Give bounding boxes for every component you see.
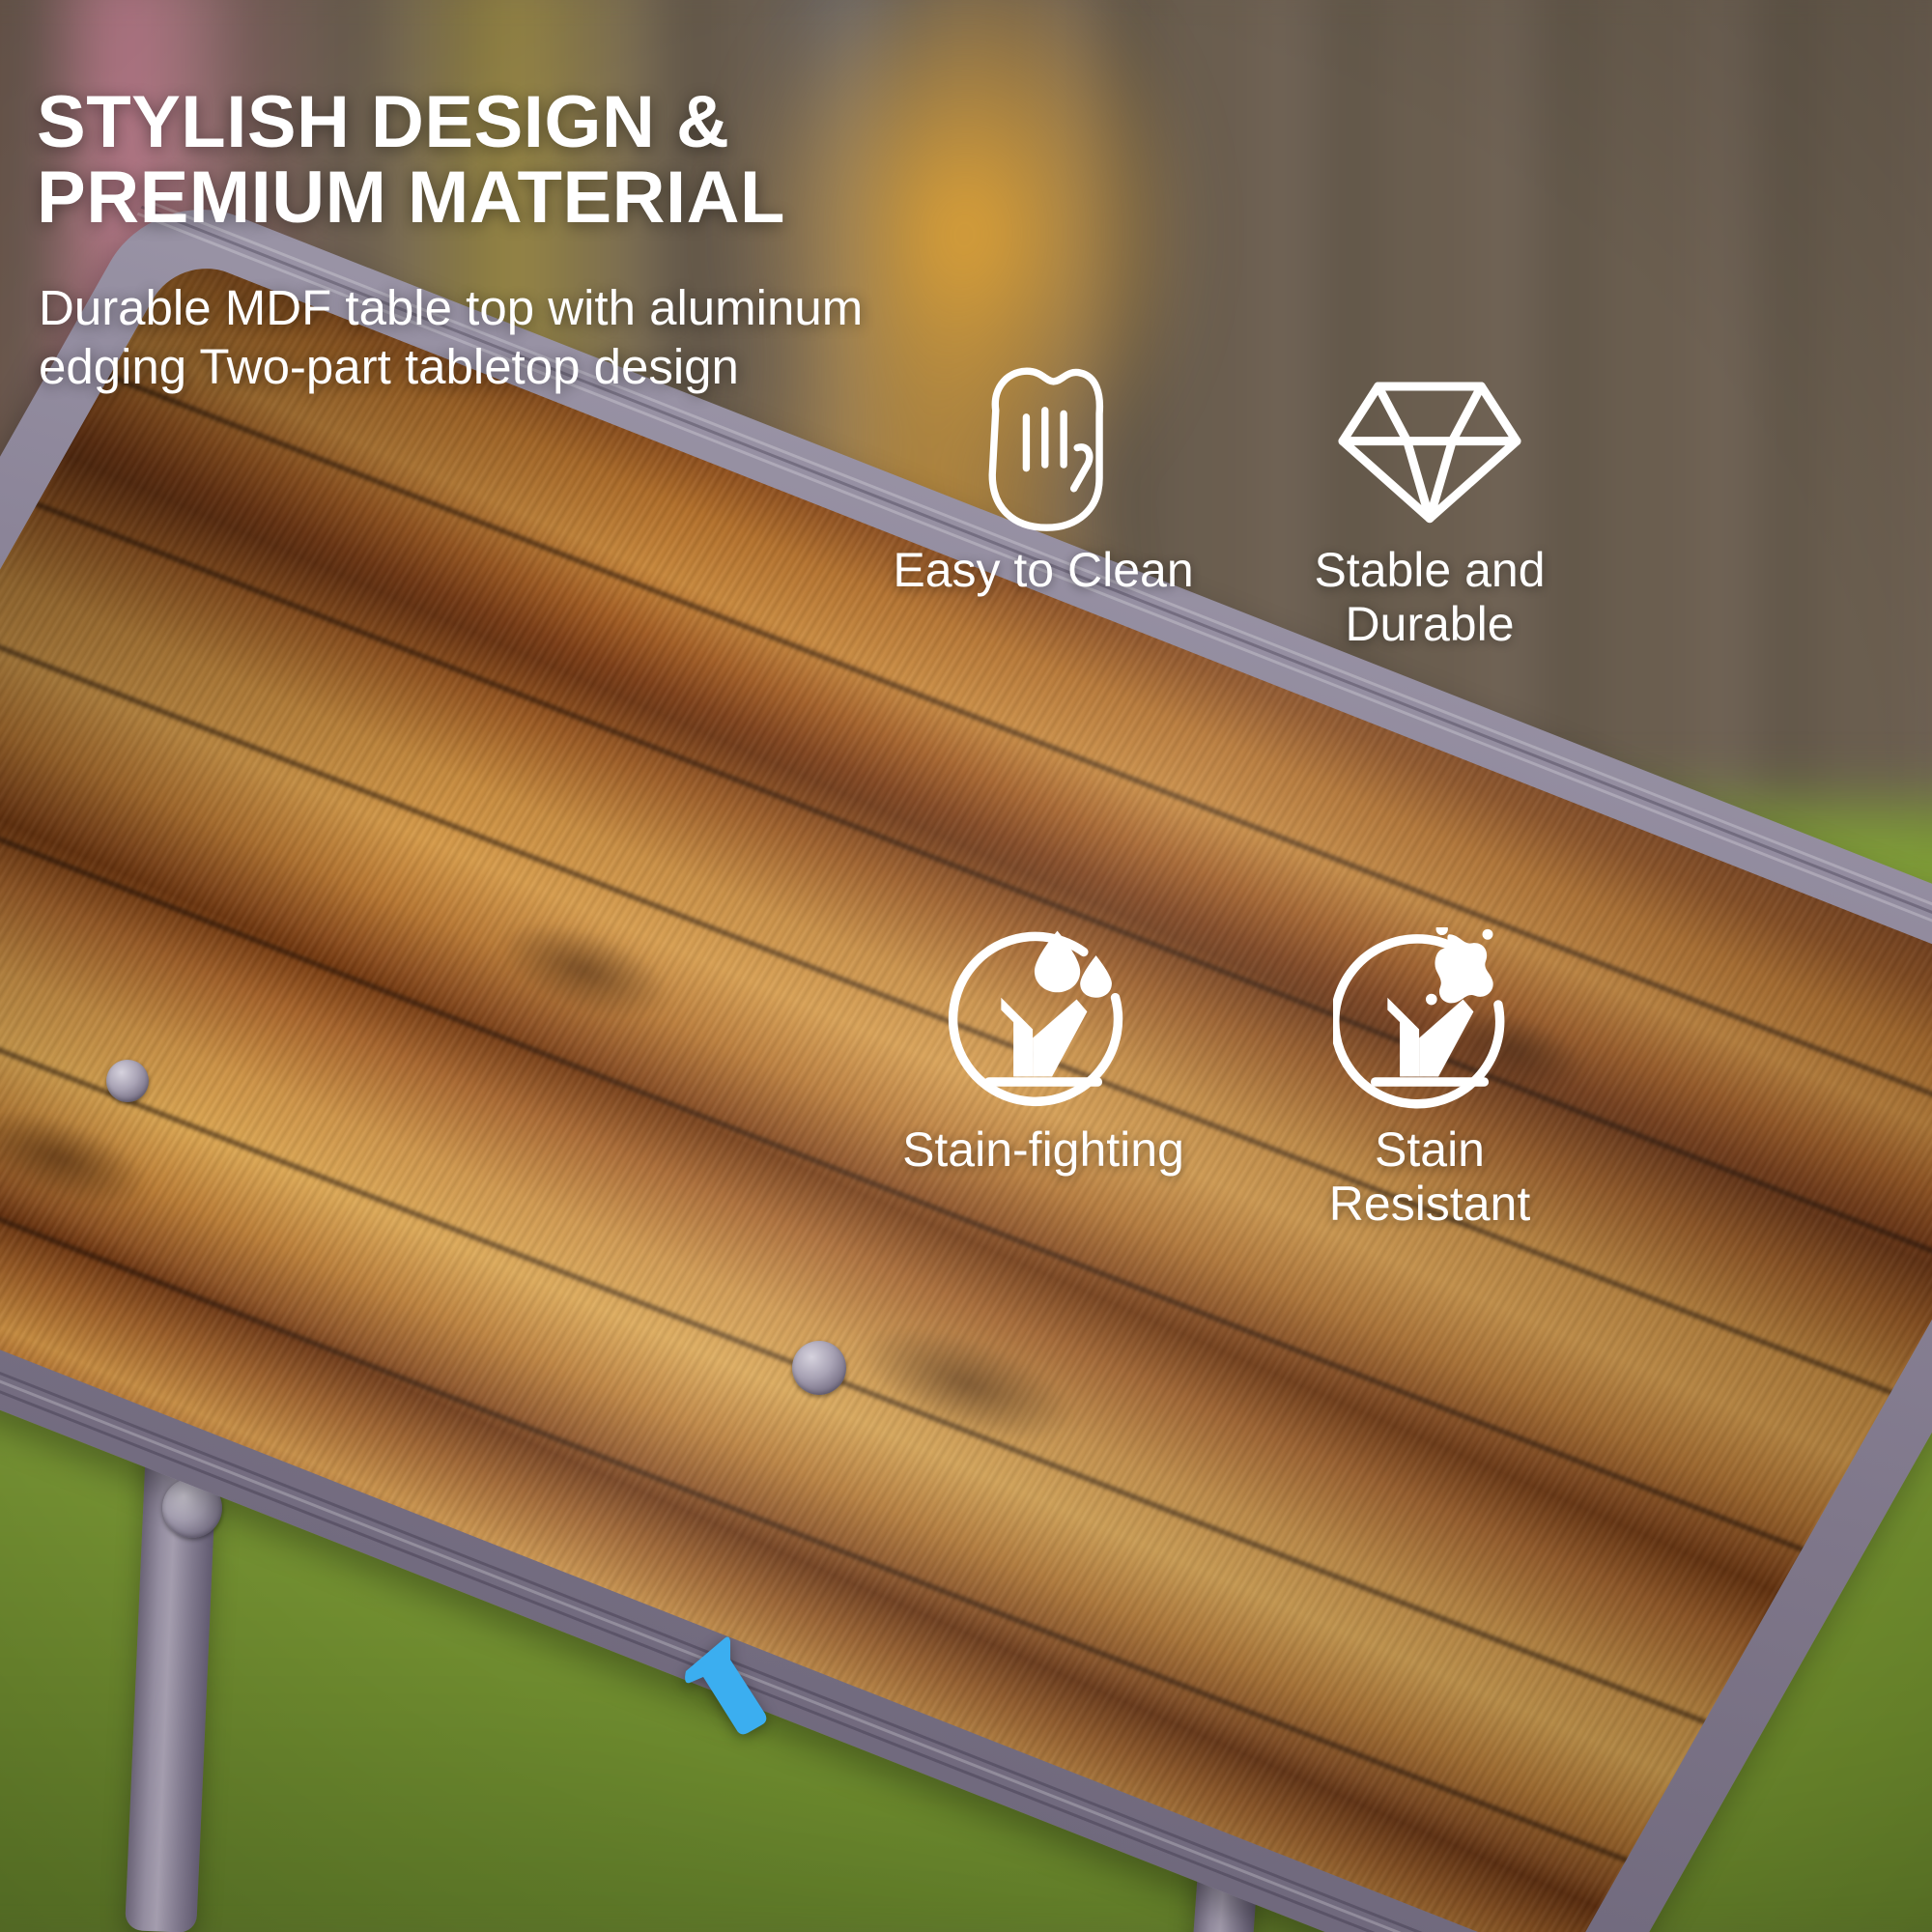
stain-splash-icon [1256,927,1604,1121]
feature-label: Stain Resistant [1256,1122,1604,1231]
feature-stable-and-durable: Stable and Durable [1256,348,1604,651]
feature-label: Easy to Clean [869,543,1217,597]
feature-label-line-2: Durable [1256,597,1604,651]
headline-line-1: STYLISH DESIGN & [37,85,1177,160]
diamond-icon [1256,348,1604,541]
subheadline-line-1: Durable MDF table top with aluminum [39,278,1063,337]
product-feature-banner: STYLISH DESIGN & PREMIUM MATERIAL Durabl… [0,0,1932,1932]
feature-stain-fighting: Stain-fighting [869,927,1217,1177]
feature-label-line-1: Stain [1256,1122,1604,1177]
feature-easy-to-clean: Easy to Clean [869,348,1217,597]
frame-rivet-mid [792,1341,846,1395]
blue-arrow-pointer[interactable] [676,1633,782,1748]
feature-stain-resistant: Stain Resistant [1256,927,1604,1231]
headline-line-2: PREMIUM MATERIAL [37,160,1177,236]
water-repellent-icon [869,927,1217,1121]
feature-label-line-1: Stable and [1256,543,1604,597]
feature-label-line-2: Resistant [1256,1177,1604,1231]
frame-rivet-corner [106,1060,149,1102]
headline: STYLISH DESIGN & PREMIUM MATERIAL [37,85,1177,237]
feature-label: Stable and Durable [1256,543,1604,651]
wiping-hand-icon [869,348,1217,541]
feature-label: Stain-fighting [869,1122,1217,1177]
